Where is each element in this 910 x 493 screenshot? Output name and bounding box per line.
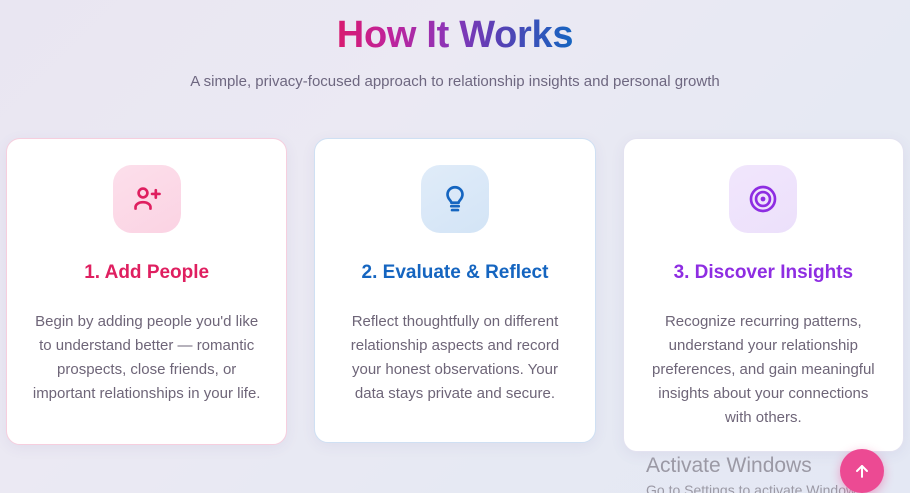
windows-activation-watermark: Activate Windows Go to Settings to activ… — [646, 452, 867, 493]
how-it-works-page: How It Works A simple, privacy-focused a… — [0, 0, 910, 493]
steps-card-list: 1. Add People Begin by adding people you… — [0, 138, 910, 452]
watermark-title: Activate Windows — [646, 452, 867, 480]
step-card-description: Begin by adding people you'd like to und… — [29, 310, 264, 406]
step-card-description: Reflect thoughtfully on different relati… — [337, 310, 572, 406]
person-plus-icon-tile — [113, 165, 181, 233]
step-card-title: 2. Evaluate & Reflect — [337, 261, 572, 285]
step-card-evaluate-reflect[interactable]: 2. Evaluate & Reflect Reflect thoughtful… — [314, 138, 595, 443]
page-subtitle: A simple, privacy-focused approach to re… — [0, 72, 910, 92]
person-plus-icon — [131, 183, 163, 215]
page-title: How It Works — [337, 12, 573, 58]
lightbulb-icon — [439, 183, 471, 215]
step-card-add-people[interactable]: 1. Add People Begin by adding people you… — [6, 138, 287, 445]
scroll-to-top-button[interactable] — [840, 449, 884, 493]
step-card-title: 1. Add People — [29, 261, 264, 285]
step-card-discover-insights[interactable]: 3. Discover Insights Recognize recurring… — [623, 138, 904, 452]
watermark-subtitle: Go to Settings to activate Windows. — [646, 480, 867, 493]
arrow-up-icon — [852, 461, 872, 481]
target-icon-tile — [729, 165, 797, 233]
page-header: How It Works A simple, privacy-focused a… — [0, 0, 910, 92]
step-card-title: 3. Discover Insights — [646, 261, 881, 285]
lightbulb-icon-tile — [421, 165, 489, 233]
target-icon — [747, 183, 779, 215]
step-card-description: Recognize recurring patterns, understand… — [646, 310, 881, 430]
